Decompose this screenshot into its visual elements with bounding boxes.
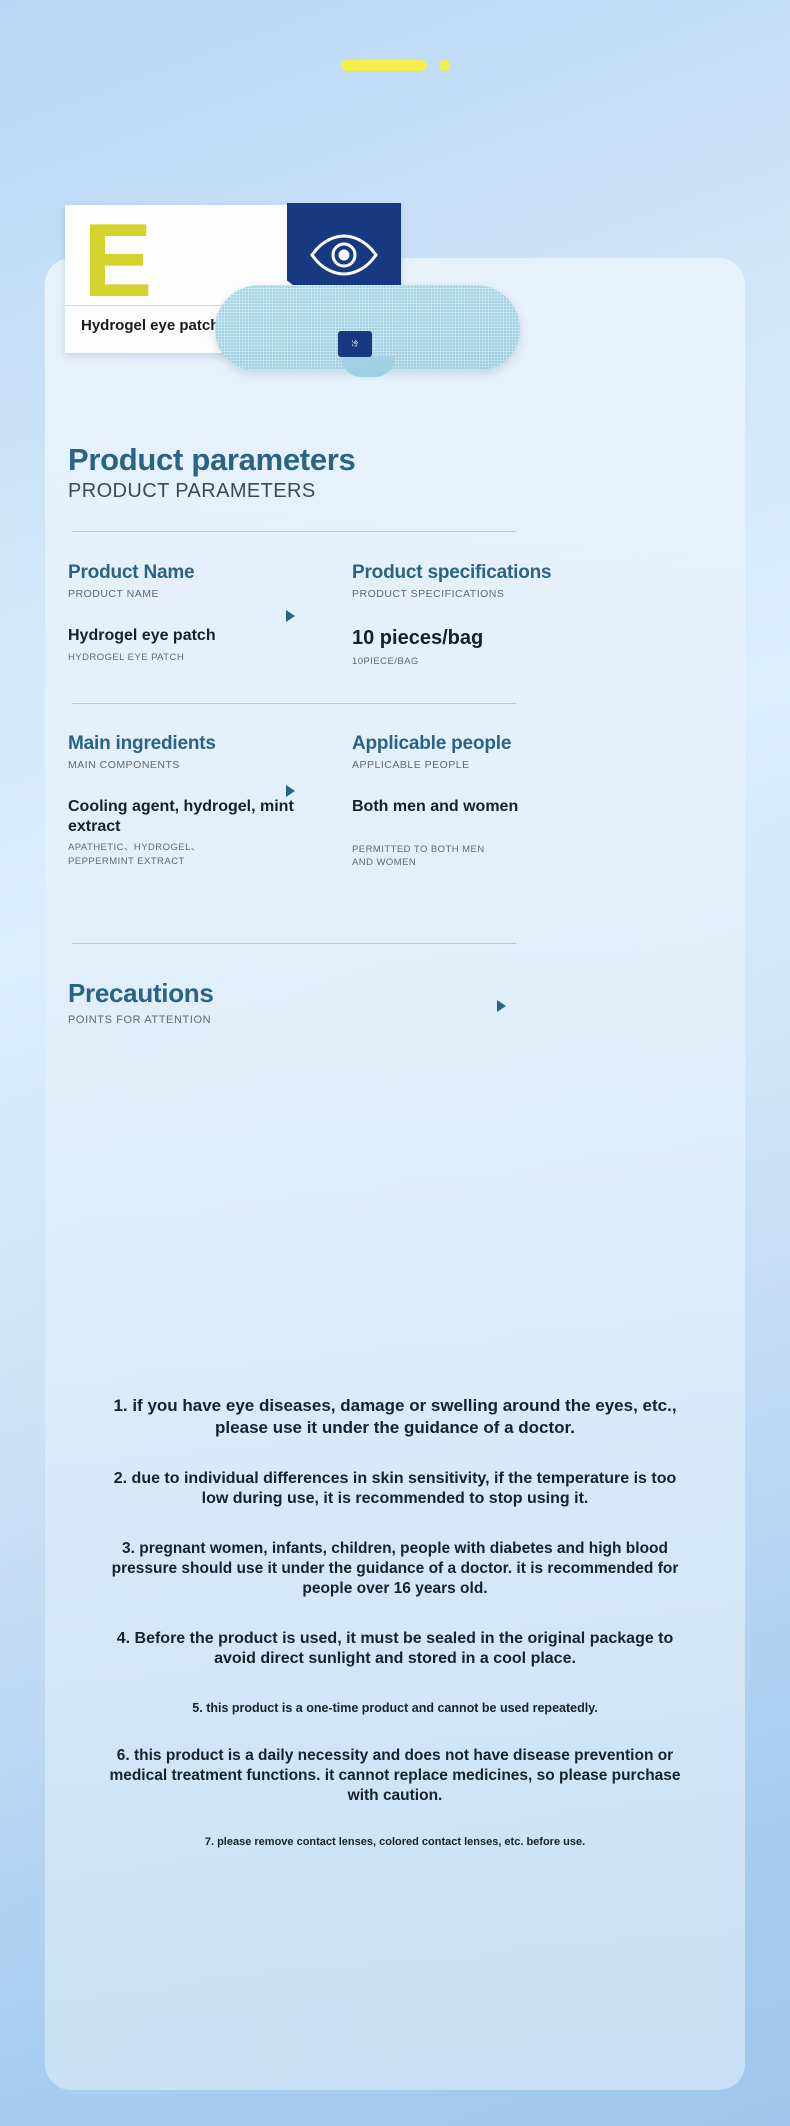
eye-icon: [309, 233, 379, 277]
parameter-cell-product-name: Product Name PRODUCT NAME Hydrogel eye p…: [68, 562, 298, 664]
parameter-subtitle: PRODUCT SPECIFICATIONS: [352, 588, 652, 600]
product-hero-image: E HYDROGEL Hydrogel eye patch 冷: [0, 205, 790, 405]
parameter-value-sub: APATHETIC、HYDROGEL、 PEPPERMINT EXTRACT: [68, 841, 298, 869]
patch-tab: 冷: [338, 331, 372, 357]
precautions-heading: Precautions POINTS FOR ATTENTION: [68, 978, 214, 1026]
parameter-cell-applicable-people: Applicable people APPLICABLE PEOPLE Both…: [352, 733, 652, 870]
parameter-subtitle: APPLICABLE PEOPLE: [352, 759, 652, 771]
page-title: Product parameters: [68, 442, 355, 478]
list-item: 1. if you have eye diseases, damage or s…: [93, 1395, 697, 1439]
parameter-cell-specifications: Product specifications PRODUCT SPECIFICA…: [352, 562, 652, 669]
precautions-subtitle: POINTS FOR ATTENTION: [68, 1014, 214, 1026]
parameter-title: Product specifications: [352, 562, 652, 584]
parameter-value: Hydrogel eye patch: [68, 626, 298, 646]
carton-product-name: Hydrogel eye patch: [81, 317, 219, 334]
precautions-title: Precautions: [68, 978, 214, 1009]
parameter-cell-main-ingredients: Main ingredients MAIN COMPONENTS Cooling…: [68, 733, 298, 869]
arrow-right-icon: [497, 1000, 506, 1012]
parameter-value: Cooling agent, hydrogel, mint extract: [68, 797, 298, 836]
parameter-value-sub: HYDROGEL EYE PATCH: [68, 651, 298, 665]
precautions-list: 1. if you have eye diseases, damage or s…: [0, 1395, 790, 1849]
divider-middle: [72, 703, 516, 704]
parameter-value-sub: 10PIECE/BAG: [352, 655, 652, 669]
list-item: 3. pregnant women, infants, children, pe…: [97, 1539, 693, 1598]
parameter-value: 10 pieces/bag: [352, 626, 652, 650]
carton-letter-e: E: [83, 219, 150, 304]
parameter-value: Both men and women: [352, 797, 652, 817]
decorative-dot: [439, 60, 450, 71]
parameter-title: Main ingredients: [68, 733, 298, 755]
arrow-right-icon: [286, 610, 295, 622]
list-item: 7. please remove contact lenses, colored…: [85, 1835, 705, 1849]
page-title-sub: PRODUCT PARAMETERS: [68, 480, 355, 503]
divider-top: [72, 531, 516, 532]
top-decoration: [0, 60, 790, 71]
list-item: 4. Before the product is used, it must b…: [105, 1629, 685, 1670]
parameter-subtitle: MAIN COMPONENTS: [68, 759, 298, 771]
parameter-title: Applicable people: [352, 733, 652, 755]
list-item: 2. due to individual differences in skin…: [105, 1469, 685, 1510]
list-item: 6. this product is a daily necessity and…: [97, 1746, 693, 1805]
divider-bottom: [72, 943, 516, 944]
parameter-subtitle: PRODUCT NAME: [68, 588, 298, 600]
list-item: 5. this product is a one-time product an…: [85, 1700, 705, 1716]
section-heading: Product parameters PRODUCT PARAMETERS: [68, 442, 355, 503]
arrow-right-icon: [286, 785, 295, 797]
decorative-pill: [341, 60, 427, 71]
parameter-value-sub: PERMITTED TO BOTH MEN AND WOMEN: [352, 843, 652, 871]
parameter-title: Product Name: [68, 562, 298, 584]
eye-patch-product: 冷: [215, 285, 520, 370]
